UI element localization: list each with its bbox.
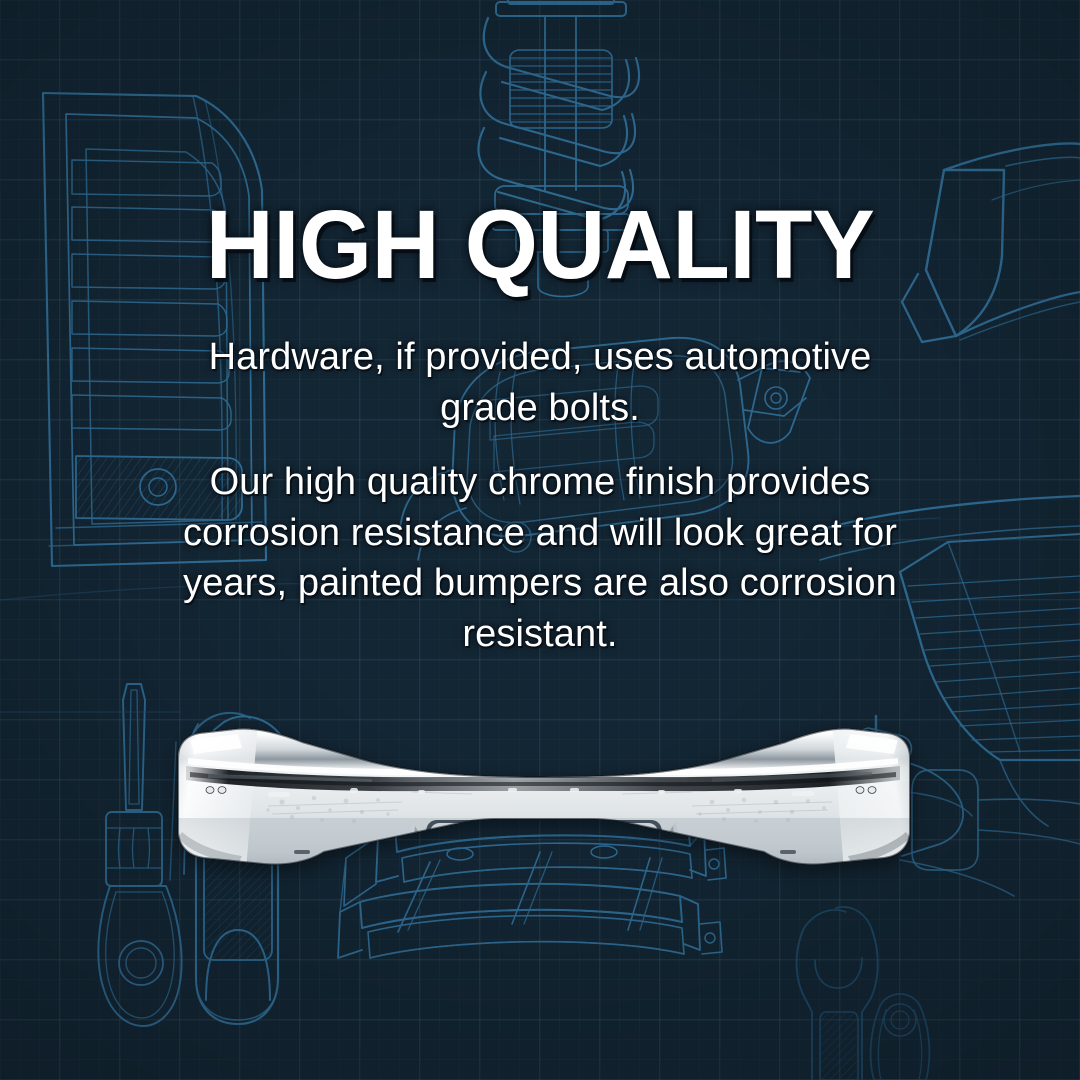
blueprint-screwdriver-secondary [871,994,930,1080]
paragraph-hardware: Hardware, if provided, uses automotive g… [170,332,910,433]
paragraph-chrome-finish: Our high quality chrome finish provides … [145,457,935,659]
blueprint-screwdriver [98,684,181,1026]
blueprint-wrench-secondary [797,907,878,1080]
promo-banner: HIGH QUALITY Hardware, if provided, uses… [0,0,1080,1080]
chrome-bumper-image [172,722,916,870]
page-title: HIGH QUALITY [16,196,1064,293]
